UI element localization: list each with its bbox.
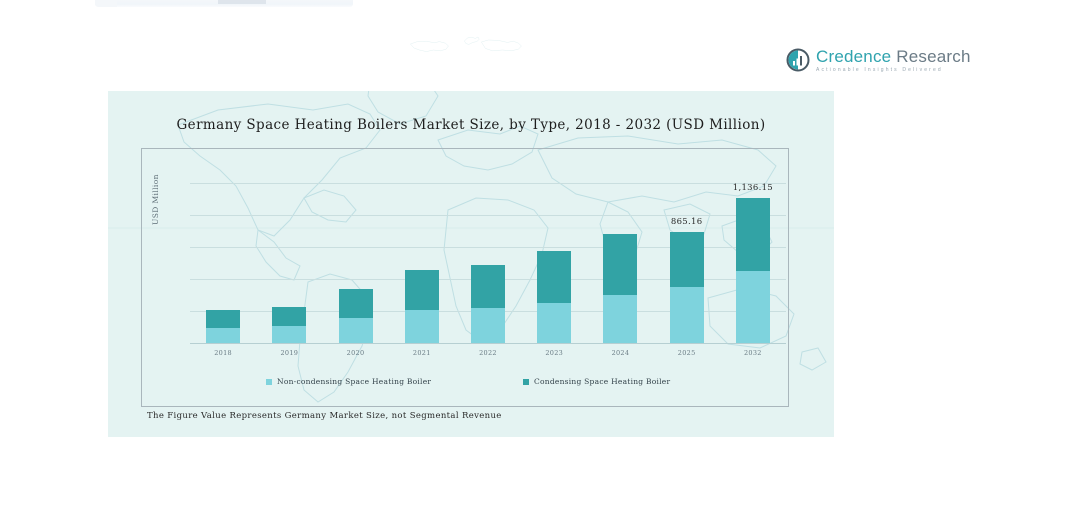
credence-research-logo: Credence Research Actionable Insights De… [786, 44, 938, 76]
bar-segment-non-condensing[interactable] [736, 271, 770, 343]
legend-label: Non-condensing Space Heating Boiler [277, 377, 431, 386]
bar-series-container: 2018201920202021202220232024865.1620251,… [190, 151, 786, 343]
legend-item-condensing[interactable]: Condensing Space Heating Boiler [523, 377, 670, 386]
bar-segment-condensing[interactable] [206, 310, 240, 328]
bar-group-2020[interactable]: 2020 [339, 289, 373, 343]
bar-segment-non-condensing[interactable] [603, 295, 637, 343]
logo-tagline: Actionable Insights Delivered [816, 68, 971, 73]
bar-group-2021[interactable]: 2021 [405, 270, 439, 343]
bar-group-2018[interactable]: 2018 [206, 310, 240, 343]
logo-text: Credence Research Actionable Insights De… [816, 48, 971, 73]
x-axis-tick-2023: 2023 [545, 349, 563, 357]
bar-segment-non-condensing[interactable] [471, 308, 505, 343]
bar-segment-non-condensing[interactable] [206, 328, 240, 343]
chart-bars-circle-icon [786, 48, 810, 72]
legend-label: Condensing Space Heating Boiler [534, 377, 670, 386]
chart-title: Germany Space Heating Boilers Market Siz… [108, 117, 834, 133]
chart-panel: Germany Space Heating Boilers Market Siz… [108, 91, 834, 437]
logo-title-research: Research [896, 47, 970, 66]
bar-segment-non-condensing[interactable] [405, 310, 439, 343]
legend-swatch-icon [266, 379, 272, 385]
bar-group-2023[interactable]: 2023 [537, 251, 571, 343]
world-map-outline-icon [108, 30, 834, 92]
x-axis-baseline [190, 343, 786, 344]
top-browser-strip-placeholder [218, 0, 266, 4]
bar-group-2022[interactable]: 2022 [471, 265, 505, 343]
y-axis-label: USD Million [151, 174, 160, 225]
chart-legend: Non-condensing Space Heating Boiler Cond… [141, 377, 789, 393]
x-axis-tick-2024: 2024 [612, 349, 630, 357]
legend-swatch-icon [523, 379, 529, 385]
bar-segment-condensing[interactable] [471, 265, 505, 308]
bar-group-2025[interactable]: 865.162025 [670, 232, 704, 343]
bar-segment-non-condensing[interactable] [272, 326, 306, 343]
bar-segment-condensing[interactable] [339, 289, 373, 319]
x-axis-tick-2019: 2019 [280, 349, 298, 357]
logo-title-credence: Credence [816, 47, 891, 66]
bar-segment-non-condensing[interactable] [537, 303, 571, 343]
bar-segment-non-condensing[interactable] [670, 287, 704, 343]
logo-title: Credence Research [816, 48, 971, 65]
x-axis-tick-2025: 2025 [678, 349, 696, 357]
bar-segment-condensing[interactable] [537, 251, 571, 302]
legend-item-non-condensing[interactable]: Non-condensing Space Heating Boiler [266, 377, 431, 386]
bar-group-2032[interactable]: 1,136.152032 [736, 198, 770, 343]
top-browser-strip-corner [95, 0, 117, 7]
world-map-watermark-top [108, 30, 834, 92]
x-axis-tick-2032: 2032 [744, 349, 762, 357]
bar-segment-condensing[interactable] [272, 307, 306, 326]
bar-value-label: 865.16 [671, 217, 703, 227]
bar-value-label: 1,136.15 [733, 183, 773, 193]
bar-segment-condensing[interactable] [736, 198, 770, 271]
x-axis-tick-2018: 2018 [214, 349, 232, 357]
chart-footnote: The Figure Value Represents Germany Mark… [147, 411, 502, 421]
x-axis-tick-2022: 2022 [479, 349, 497, 357]
bar-segment-non-condensing[interactable] [339, 318, 373, 343]
bar-segment-condensing[interactable] [603, 234, 637, 295]
bar-group-2019[interactable]: 2019 [272, 307, 306, 343]
x-axis-tick-2021: 2021 [413, 349, 431, 357]
bar-segment-condensing[interactable] [405, 270, 439, 310]
bar-segment-condensing[interactable] [670, 232, 704, 287]
bar-group-2024[interactable]: 2024 [603, 234, 637, 343]
x-axis-tick-2020: 2020 [347, 349, 365, 357]
